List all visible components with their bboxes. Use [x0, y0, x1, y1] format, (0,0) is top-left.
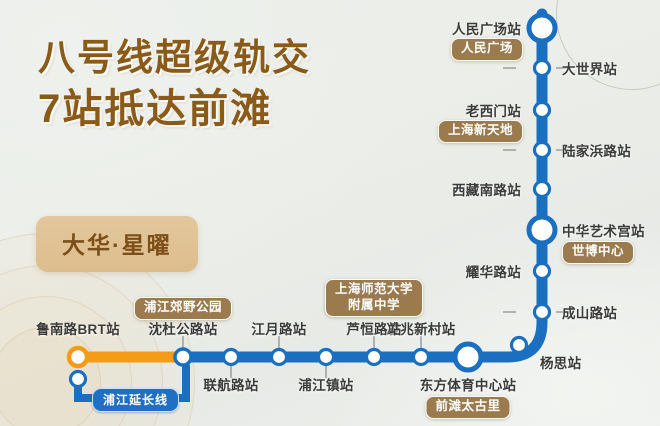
station-dot-pujiang-zhen[interactable] [319, 350, 334, 365]
station-dot-zhonghua-yishugong[interactable] [529, 217, 555, 243]
station-label-zhonghua-yishugong[interactable]: 中华艺术宫站 [562, 220, 645, 240]
station-dot-yangsi[interactable] [512, 338, 527, 353]
poi-badge-qiantan-taikoo-li[interactable]: 前滩太古里 [425, 396, 510, 419]
station-dot-dashijie[interactable] [535, 61, 550, 76]
brand-badge: 大华·星曜 [36, 216, 198, 272]
station-label-luheng-lu[interactable]: 芦恒路站 [346, 318, 401, 338]
station-label-shendu-gonglu[interactable]: 沈杜公路站 [149, 318, 218, 338]
station-dot-branch-stub[interactable] [71, 372, 86, 387]
poi-badge-line-2: 附属中学 [335, 298, 413, 314]
station-label-chengshan-lu[interactable]: 成山路站 [562, 302, 617, 322]
headline: 八号线超级轨交 7站抵达前滩 [38, 36, 311, 133]
poi-badge-line-1: 上海师范大学 [335, 282, 413, 298]
station-label-lunan-lu-brt[interactable]: 鲁南路BRT站 [36, 318, 120, 338]
station-label-xizang-nan-lu[interactable]: 西藏南路站 [452, 179, 521, 199]
station-label-yaohua-lu[interactable]: 耀华路站 [466, 261, 521, 281]
headline-line-1: 八号线超级轨交 [38, 36, 311, 80]
station-dot-lunan-lu-brt[interactable] [69, 348, 87, 366]
station-label-jiangyue-lu[interactable]: 江月路站 [251, 318, 306, 338]
station-dot-luheng-lu[interactable] [367, 350, 382, 365]
station-dot-xizang-nan-lu[interactable] [535, 182, 550, 197]
poi-badge-pujiang-country-park[interactable]: 浦江郊野公园 [134, 297, 232, 320]
station-label-lujiabang-lu[interactable]: 陆家浜路站 [562, 140, 631, 160]
station-label-laoximen[interactable]: 老西门站 [466, 100, 521, 120]
station-dot-renmin-guangchang[interactable] [529, 15, 555, 41]
station-dot-shendu-gonglu[interactable] [175, 349, 191, 365]
branch-line-badge[interactable]: 浦江延长线 [92, 388, 179, 412]
poi-badge-shanghai-normal-university[interactable]: 上海师范大学 附属中学 [325, 279, 423, 317]
station-dot-dongfang-tiyu[interactable] [455, 344, 481, 370]
station-label-pujiang-zhen[interactable]: 浦江镇站 [298, 374, 353, 394]
station-dot-jiangyue-lu[interactable] [272, 350, 287, 365]
station-dot-lujiabang-lu[interactable] [535, 143, 550, 158]
station-dot-chengshan-lu[interactable] [535, 305, 550, 320]
station-dot-yaohua-lu[interactable] [535, 264, 550, 279]
poi-badge-renmin-guangchang[interactable]: 人民广场 [451, 38, 523, 61]
station-dot-laoximen[interactable] [535, 103, 550, 118]
headline-line-2: 7站抵达前滩 [38, 86, 311, 133]
station-label-yangsi[interactable]: 杨思站 [540, 352, 581, 372]
metro-promo-poster: 八号线超级轨交 7站抵达前滩 大华·星曜 [0, 0, 660, 426]
station-label-renmin-guangchang[interactable]: 人民广场站 [452, 18, 521, 38]
station-label-dongfang-tiyu[interactable]: 东方体育中心站 [420, 374, 517, 394]
station-label-lianhang-lu[interactable]: 联航路站 [203, 374, 258, 394]
station-dot-lingzhao-xincun[interactable] [414, 350, 429, 365]
brand-badge-label: 大华·星曜 [62, 232, 172, 258]
poi-badge-shibo-zhongxin[interactable]: 世博中心 [562, 241, 634, 264]
station-label-dashijie[interactable]: 大世界站 [562, 58, 617, 78]
poi-badge-xintiandi[interactable]: 上海新天地 [438, 120, 523, 143]
station-dot-lianhang-lu[interactable] [224, 350, 239, 365]
